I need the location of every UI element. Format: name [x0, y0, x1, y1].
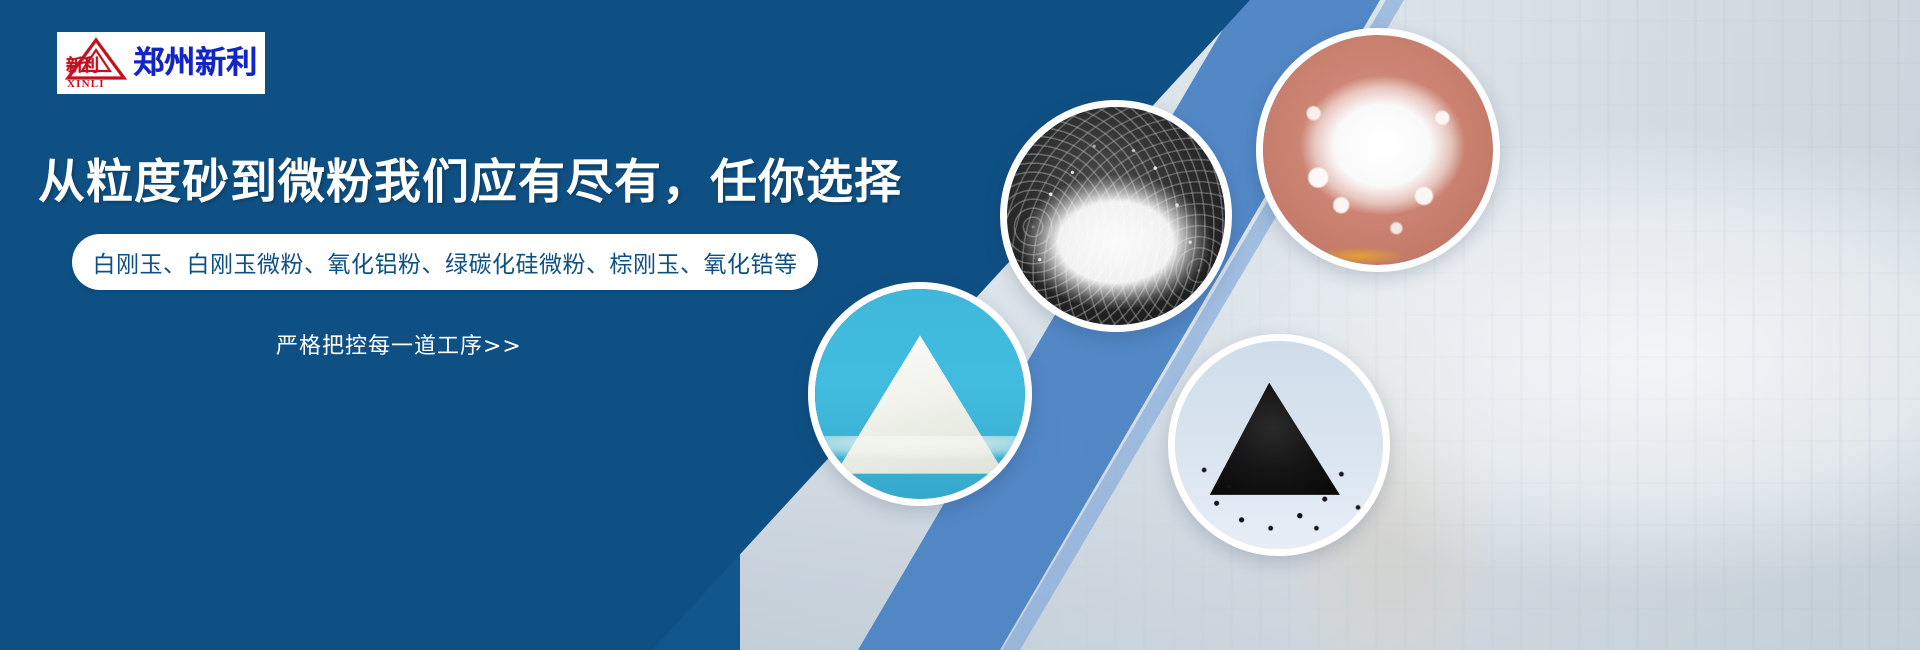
product-circle-white-micropowder-pile [808, 282, 1032, 506]
grain-speckles [1007, 107, 1225, 325]
logo-mark-cn-text: 新利 [66, 51, 98, 76]
product-circle-white-alumina-powder [1256, 28, 1500, 272]
product-circle-black-silicon-carbide-grit [1168, 334, 1390, 556]
product-list-text: 白刚玉、白刚玉微粉、氧化铝粉、绿碳化硅微粉、棕刚玉、氧化锆等 [93, 245, 798, 279]
logo-mark-en-text: XINLI [67, 78, 105, 90]
product-list-pill: 白刚玉、白刚玉微粉、氧化铝粉、绿碳化硅微粉、棕刚玉、氧化锆等 [72, 234, 818, 290]
promo-banner: 新利 XINLI 郑州新利 从粒度砂到微粉我们应有尽有，任你选择 白刚玉、白刚玉… [0, 0, 1920, 650]
material-scatter [1175, 341, 1383, 549]
company-name: 郑州新利 [133, 48, 257, 79]
material-powder [1263, 35, 1493, 265]
cta-link[interactable]: 严格把控每一道工序>> [276, 328, 522, 360]
headline: 从粒度砂到微粉我们应有尽有，任你选择 [38, 143, 902, 212]
logo-mark: 新利 XINLI [65, 35, 127, 91]
company-logo[interactable]: 新利 XINLI 郑州新利 [57, 32, 265, 94]
material-spread [819, 436, 1021, 470]
product-circle-white-fused-alumina-grit [1000, 100, 1232, 332]
